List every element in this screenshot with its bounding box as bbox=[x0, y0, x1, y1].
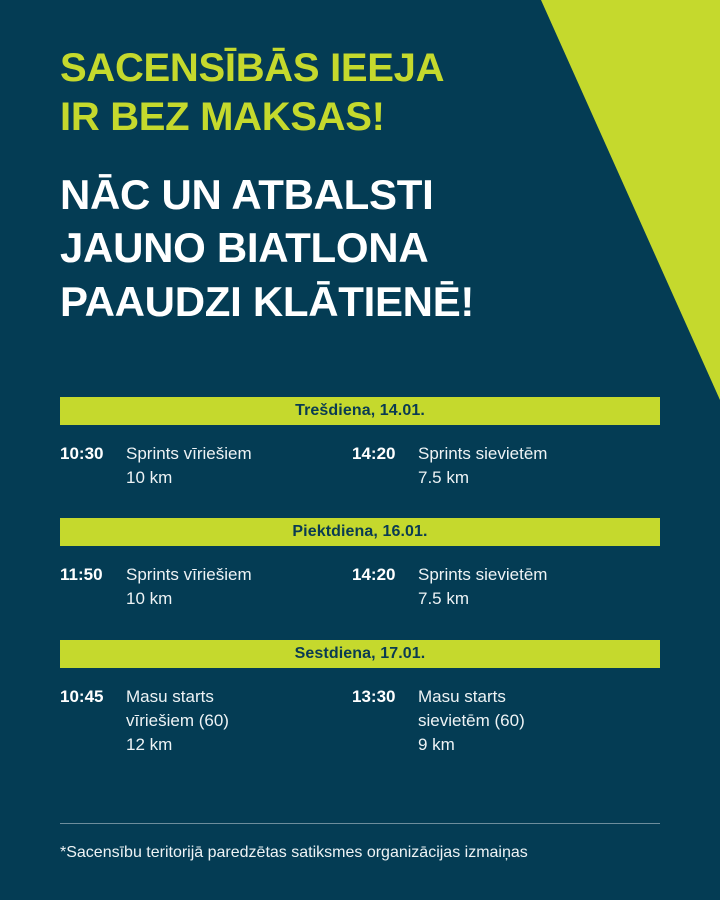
event-description-line: Sprints vīriešiem bbox=[126, 563, 252, 587]
event-description-line: Masu starts bbox=[418, 685, 525, 709]
event-description-line: sievietēm (60) bbox=[418, 709, 525, 733]
schedule-day-group: Piektdiena, 16.01. 11:50 Sprints vīrieši… bbox=[60, 518, 660, 611]
event-item: 10:45 Masu starts vīriešiem (60) 12 km bbox=[60, 685, 352, 757]
schedule-list: Trešdiena, 14.01. 10:30 Sprints vīriešie… bbox=[60, 397, 660, 757]
event-description-line: Sprints sievietēm bbox=[418, 442, 547, 466]
event-item: 14:20 Sprints sievietēm 7.5 km bbox=[352, 563, 660, 611]
event-description-line: Sprints sievietēm bbox=[418, 563, 547, 587]
event-distance-line: 7.5 km bbox=[418, 587, 547, 611]
event-item: 14:20 Sprints sievietēm 7.5 km bbox=[352, 442, 660, 490]
day-events-row: 11:50 Sprints vīriešiem 10 km 14:20 Spri… bbox=[60, 546, 660, 611]
schedule-day-group: Sestdiena, 17.01. 10:45 Masu starts vīri… bbox=[60, 640, 660, 757]
event-description: Sprints vīriešiem 10 km bbox=[126, 563, 252, 611]
headline-green-line-1: SACENSĪBĀS IEEJA bbox=[60, 44, 580, 93]
day-header-label: Sestdiena, 17.01. bbox=[295, 645, 426, 663]
headline-white-line-3: PAAUDZI KLĀTIENĒ! bbox=[60, 275, 580, 329]
day-header-bar: Sestdiena, 17.01. bbox=[60, 640, 660, 668]
event-item: 10:30 Sprints vīriešiem 10 km bbox=[60, 442, 352, 490]
event-time: 13:30 bbox=[352, 685, 418, 709]
event-item: 13:30 Masu starts sievietēm (60) 9 km bbox=[352, 685, 660, 757]
event-distance-line: 12 km bbox=[126, 733, 229, 757]
event-description: Masu starts sievietēm (60) 9 km bbox=[418, 685, 525, 757]
headline-white: NĀC UN ATBALSTI JAUNO BIATLONA PAAUDZI K… bbox=[60, 142, 580, 329]
event-time: 11:50 bbox=[60, 563, 126, 587]
event-description: Sprints vīriešiem 10 km bbox=[126, 442, 252, 490]
schedule-day-group: Trešdiena, 14.01. 10:30 Sprints vīriešie… bbox=[60, 397, 660, 490]
headline-white-line-1: NĀC UN ATBALSTI bbox=[60, 168, 580, 222]
event-distance-line: 9 km bbox=[418, 733, 525, 757]
footer: *Sacensību teritorijā paredzētas satiksm… bbox=[60, 823, 660, 864]
headline-green-line-2: IR BEZ MAKSAS! bbox=[60, 93, 580, 142]
day-header-label: Trešdiena, 14.01. bbox=[295, 402, 425, 420]
event-description-line: vīriešiem (60) bbox=[126, 709, 229, 733]
headline-block: SACENSĪBĀS IEEJA IR BEZ MAKSAS! NĀC UN A… bbox=[60, 44, 580, 329]
event-description: Sprints sievietēm 7.5 km bbox=[418, 442, 547, 490]
event-time: 14:20 bbox=[352, 563, 418, 587]
day-header-bar: Piektdiena, 16.01. bbox=[60, 518, 660, 546]
footer-note: *Sacensību teritorijā paredzētas satiksm… bbox=[60, 824, 660, 864]
event-time: 14:20 bbox=[352, 442, 418, 466]
day-events-row: 10:30 Sprints vīriešiem 10 km 14:20 Spri… bbox=[60, 425, 660, 490]
day-header-bar: Trešdiena, 14.01. bbox=[60, 397, 660, 425]
event-description-line: Sprints vīriešiem bbox=[126, 442, 252, 466]
headline-green: SACENSĪBĀS IEEJA IR BEZ MAKSAS! bbox=[60, 44, 580, 142]
event-distance-line: 10 km bbox=[126, 466, 252, 490]
event-item: 11:50 Sprints vīriešiem 10 km bbox=[60, 563, 352, 611]
day-events-row: 10:45 Masu starts vīriešiem (60) 12 km 1… bbox=[60, 668, 660, 757]
event-description: Sprints sievietēm 7.5 km bbox=[418, 563, 547, 611]
event-description: Masu starts vīriešiem (60) 12 km bbox=[126, 685, 229, 757]
event-time: 10:45 bbox=[60, 685, 126, 709]
event-description-line: Masu starts bbox=[126, 685, 229, 709]
event-distance-line: 7.5 km bbox=[418, 466, 547, 490]
poster-root: SACENSĪBĀS IEEJA IR BEZ MAKSAS! NĀC UN A… bbox=[0, 0, 720, 900]
event-time: 10:30 bbox=[60, 442, 126, 466]
headline-white-line-2: JAUNO BIATLONA bbox=[60, 221, 580, 275]
day-header-label: Piektdiena, 16.01. bbox=[292, 523, 427, 541]
event-distance-line: 10 km bbox=[126, 587, 252, 611]
